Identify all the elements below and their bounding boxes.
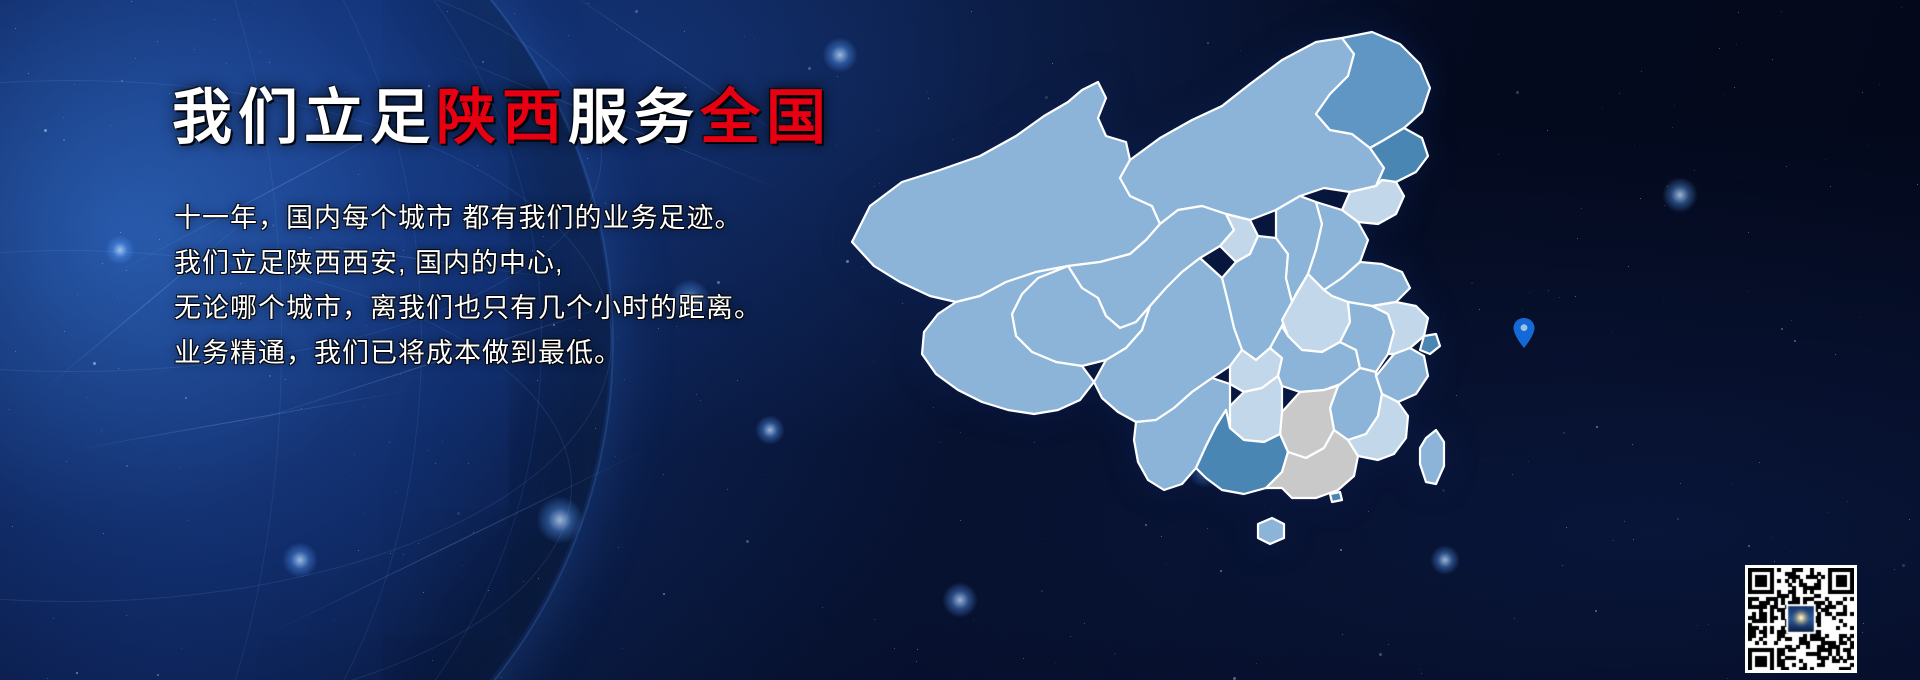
mesh-dot bbox=[501, 677, 502, 678]
map-pin-icon bbox=[1513, 318, 1535, 348]
mesh-streak bbox=[262, 444, 658, 638]
mesh-dot bbox=[618, 547, 619, 548]
mesh-dot bbox=[1734, 87, 1735, 88]
mesh-dot bbox=[1781, 11, 1782, 12]
mesh-dot bbox=[1748, 232, 1749, 233]
mesh-dot bbox=[514, 13, 515, 14]
mesh-dot bbox=[1612, 332, 1613, 333]
mesh-dot bbox=[1547, 130, 1548, 131]
mesh-dot bbox=[1677, 518, 1679, 520]
body-line-3: 无论哪个城市，离我们也只有几个小时的距离。 bbox=[174, 286, 762, 331]
mesh-dot bbox=[169, 93, 170, 94]
mesh-dot bbox=[44, 129, 47, 132]
mesh-dot bbox=[1640, 198, 1641, 199]
mesh-dot bbox=[157, 674, 159, 676]
mesh-dot bbox=[432, 660, 433, 661]
mesh-dot bbox=[1680, 483, 1681, 484]
mesh-dot bbox=[254, 3, 255, 4]
mesh-dot bbox=[181, 648, 182, 649]
mesh-dot bbox=[1791, 320, 1792, 321]
mesh-dot bbox=[616, 29, 617, 30]
mesh-dot bbox=[187, 520, 188, 521]
headline-segment-2: 陕西 bbox=[436, 84, 568, 151]
mesh-dot bbox=[226, 63, 227, 64]
mesh-dot bbox=[76, 672, 78, 674]
mesh-dot bbox=[754, 39, 755, 40]
mesh-dot bbox=[587, 158, 588, 159]
mesh-dot bbox=[1723, 94, 1724, 95]
mesh-dot bbox=[28, 73, 29, 74]
mesh-dot bbox=[350, 430, 351, 431]
mesh-dot bbox=[1786, 166, 1787, 167]
mesh-dot bbox=[157, 41, 158, 42]
mesh-dot bbox=[447, 11, 448, 12]
mesh-dot bbox=[389, 442, 390, 443]
mesh-dot bbox=[1902, 564, 1905, 567]
mesh-dot bbox=[117, 296, 118, 297]
headline-segment-4: 全国 bbox=[700, 84, 832, 151]
mesh-dot bbox=[1634, 145, 1635, 146]
mesh-dot bbox=[568, 35, 569, 36]
mesh-dot bbox=[1529, 292, 1530, 293]
mesh-dot bbox=[663, 474, 664, 475]
mesh-dot bbox=[1790, 551, 1791, 552]
mesh-dot bbox=[93, 362, 96, 365]
mesh-dot bbox=[301, 408, 302, 409]
mesh-dot bbox=[509, 674, 510, 675]
mesh-dot bbox=[395, 492, 396, 493]
mesh-dot bbox=[110, 125, 111, 126]
mesh-dot bbox=[1522, 310, 1523, 311]
promo-banner: 我们立足陕西服务全国 十一年，国内每个城市 都有我们的业务足迹。 我们立足陕西西… bbox=[0, 0, 1920, 680]
mesh-dot bbox=[482, 61, 484, 63]
mesh-dot bbox=[390, 553, 391, 554]
mesh-dot bbox=[1575, 296, 1576, 297]
mesh-dot bbox=[537, 380, 538, 381]
mesh-glow bbox=[755, 415, 785, 445]
mesh-dot bbox=[1672, 127, 1673, 128]
mesh-dot bbox=[462, 565, 463, 566]
mesh-dot bbox=[118, 368, 119, 369]
mesh-dot bbox=[523, 581, 524, 582]
body-line-4: 业务精通，我们已将成本做到最低。 bbox=[174, 331, 762, 376]
mesh-dot bbox=[74, 84, 75, 85]
mesh-dot bbox=[1512, 474, 1513, 475]
mesh-dot bbox=[403, 554, 404, 555]
mesh-dot bbox=[1516, 91, 1519, 94]
mesh-dot bbox=[475, 396, 476, 397]
mesh-dot bbox=[700, 400, 701, 401]
mesh-dot bbox=[1674, 105, 1675, 106]
mesh-dot bbox=[1498, 154, 1499, 155]
mesh-dot bbox=[47, 678, 48, 679]
mesh-dot bbox=[822, 607, 823, 608]
mesh-dot bbox=[442, 441, 443, 442]
mesh-dot bbox=[102, 263, 103, 264]
mesh-dot bbox=[1628, 266, 1629, 267]
mesh-dot bbox=[1667, 186, 1668, 187]
mesh-dot bbox=[746, 540, 749, 543]
mesh-dot bbox=[180, 467, 181, 468]
mesh-dot bbox=[1894, 569, 1895, 570]
mesh-dot bbox=[15, 28, 16, 29]
headline-segment-3: 服务 bbox=[568, 84, 700, 151]
mesh-dot bbox=[1514, 618, 1515, 619]
mesh-dot bbox=[126, 615, 127, 616]
mesh-dot bbox=[1747, 291, 1748, 292]
mesh-dot bbox=[1917, 184, 1918, 185]
mesh-dot bbox=[1577, 238, 1578, 239]
province-shanghai bbox=[1420, 334, 1440, 354]
mesh-dot bbox=[477, 165, 478, 166]
mesh-dot bbox=[1909, 519, 1910, 520]
mesh-dot bbox=[622, 648, 623, 649]
mesh-dot bbox=[214, 19, 215, 20]
mesh-dot bbox=[1825, 159, 1826, 160]
mesh-dot bbox=[790, 549, 791, 550]
mesh-dot bbox=[364, 513, 365, 514]
province-hongkong bbox=[1330, 492, 1342, 502]
mesh-dot bbox=[1862, 632, 1863, 633]
mesh-dot bbox=[808, 67, 811, 70]
mesh-dot bbox=[1827, 512, 1828, 513]
mesh-dot bbox=[269, 62, 270, 63]
mesh-dot bbox=[1772, 537, 1773, 538]
mesh-dot bbox=[1863, 623, 1864, 624]
mesh-dot bbox=[765, 474, 766, 475]
mesh-dot bbox=[1694, 170, 1695, 171]
china-map bbox=[830, 10, 1490, 670]
mesh-dot bbox=[1736, 44, 1737, 45]
mesh-dot bbox=[1641, 71, 1642, 72]
mesh-dot bbox=[285, 379, 286, 380]
mesh-dot bbox=[1862, 92, 1863, 93]
mesh-dot bbox=[1595, 610, 1597, 612]
mesh-dot bbox=[1663, 301, 1664, 302]
mesh-dot bbox=[1738, 176, 1739, 177]
mesh-dot bbox=[457, 512, 460, 515]
mesh-dot bbox=[1727, 678, 1728, 679]
mesh-dot bbox=[1748, 545, 1750, 547]
mesh-dot bbox=[103, 533, 104, 534]
mesh-dot bbox=[1566, 527, 1567, 528]
mesh-dot bbox=[635, 10, 638, 13]
mesh-dot bbox=[354, 454, 355, 455]
mesh-dot bbox=[418, 543, 419, 544]
mesh-dot bbox=[358, 174, 359, 175]
mesh-dot bbox=[1421, 673, 1422, 674]
mesh-dot bbox=[473, 532, 474, 533]
mesh-dot bbox=[1860, 317, 1861, 318]
mesh-dot bbox=[159, 239, 160, 240]
mesh-dot bbox=[595, 428, 596, 429]
mesh-dot bbox=[624, 379, 625, 380]
body-line-2: 我们立足陕西西安, 国内的中心, bbox=[174, 241, 762, 286]
mesh-dot bbox=[12, 526, 13, 527]
body-line-1: 十一年，国内每个城市 都有我们的业务足迹。 bbox=[174, 196, 762, 241]
mesh-dot bbox=[1708, 624, 1709, 625]
mesh-dot bbox=[435, 463, 436, 464]
mesh-dot bbox=[462, 577, 463, 578]
page-title: 我们立足陕西服务全国 bbox=[172, 88, 832, 148]
mesh-dot bbox=[143, 146, 144, 147]
mesh-dot bbox=[1624, 521, 1625, 522]
mesh-dot bbox=[1713, 525, 1714, 526]
mesh-dot bbox=[696, 394, 697, 395]
mesh-dot bbox=[1528, 461, 1529, 462]
mesh-dot bbox=[1559, 297, 1560, 298]
mesh-dot bbox=[63, 139, 65, 141]
headline-segment-1: 我们立足 bbox=[172, 84, 436, 151]
mesh-dot bbox=[135, 58, 136, 59]
mesh-dot bbox=[101, 430, 102, 431]
mesh-dot bbox=[1548, 290, 1549, 291]
mesh-dot bbox=[1868, 145, 1869, 146]
mesh-dot bbox=[1619, 93, 1620, 94]
mesh-dot bbox=[1719, 48, 1720, 49]
mesh-dot bbox=[684, 31, 685, 32]
mesh-dot bbox=[1632, 444, 1633, 445]
mesh-dot bbox=[1596, 426, 1598, 428]
mesh-dot bbox=[538, 578, 539, 579]
mesh-dot bbox=[423, 592, 424, 593]
mesh-dot bbox=[744, 36, 745, 37]
mesh-dot bbox=[258, 1, 259, 2]
mesh-dot bbox=[1732, 483, 1733, 484]
mesh-glow bbox=[536, 496, 584, 544]
mesh-dot bbox=[1847, 501, 1848, 502]
mesh-dot bbox=[1901, 7, 1902, 8]
mesh-dot bbox=[488, 590, 489, 591]
mesh-dot bbox=[9, 409, 10, 410]
mesh-dot bbox=[66, 461, 67, 462]
mesh-dot bbox=[1879, 84, 1880, 85]
mesh-dot bbox=[1794, 340, 1796, 342]
mesh-dot bbox=[185, 397, 187, 399]
mesh-dot bbox=[131, 1, 132, 2]
mesh-dot bbox=[727, 489, 728, 490]
mesh-dot bbox=[1602, 108, 1603, 109]
mesh-dot bbox=[1697, 625, 1698, 626]
mesh-dot bbox=[615, 456, 616, 457]
mesh-dot bbox=[121, 80, 123, 82]
mesh-dot bbox=[15, 351, 16, 352]
mesh-dot bbox=[370, 152, 371, 153]
mesh-dot bbox=[1581, 208, 1582, 209]
mesh-glow bbox=[1662, 177, 1698, 213]
mesh-dot bbox=[194, 49, 195, 50]
mesh-dot bbox=[590, 180, 591, 181]
mesh-streak bbox=[63, 389, 418, 452]
mesh-dot bbox=[663, 593, 665, 595]
mesh-dot bbox=[63, 117, 64, 118]
mesh-dot bbox=[1562, 565, 1563, 566]
mesh-dot bbox=[126, 465, 128, 467]
mesh-dot bbox=[120, 232, 121, 233]
mesh-dot bbox=[1772, 59, 1773, 60]
mesh-dot bbox=[588, 3, 589, 4]
mesh-dot bbox=[589, 39, 590, 40]
mesh-dot bbox=[428, 450, 429, 451]
mesh-dot bbox=[1563, 432, 1565, 434]
province-taiwan bbox=[1420, 430, 1444, 484]
mesh-dot bbox=[358, 550, 359, 551]
mesh-dot bbox=[351, 476, 352, 477]
mesh-dot bbox=[363, 406, 364, 407]
mesh-dot bbox=[737, 380, 738, 381]
province-hainan bbox=[1258, 518, 1284, 544]
mesh-glow bbox=[282, 542, 318, 578]
mesh-dot bbox=[1781, 328, 1783, 330]
mesh-dot bbox=[1633, 539, 1634, 540]
mesh-dot bbox=[29, 123, 30, 124]
mesh-dot bbox=[1613, 540, 1614, 541]
mesh-dot bbox=[64, 331, 65, 332]
mesh-dot bbox=[334, 619, 335, 620]
mesh-dot bbox=[126, 270, 127, 271]
mesh-dot bbox=[259, 51, 260, 52]
mesh-dot bbox=[468, 463, 469, 464]
mesh-dot bbox=[1830, 186, 1831, 187]
mesh-dot bbox=[87, 397, 88, 398]
mesh-dot bbox=[77, 294, 78, 295]
mesh-dot bbox=[1664, 205, 1665, 206]
mesh-dot bbox=[1759, 462, 1760, 463]
mesh-dot bbox=[1774, 561, 1775, 562]
mesh-dot bbox=[1738, 12, 1739, 13]
mesh-dot bbox=[508, 395, 509, 396]
mesh-glow bbox=[105, 235, 135, 265]
qr-code[interactable] bbox=[1745, 565, 1857, 673]
china-map-svg bbox=[830, 10, 1490, 670]
mesh-dot bbox=[53, 618, 54, 619]
body-copy: 十一年，国内每个城市 都有我们的业务足迹。 我们立足陕西西安, 国内的中心, 无… bbox=[174, 196, 762, 376]
mesh-dot bbox=[1835, 354, 1836, 355]
